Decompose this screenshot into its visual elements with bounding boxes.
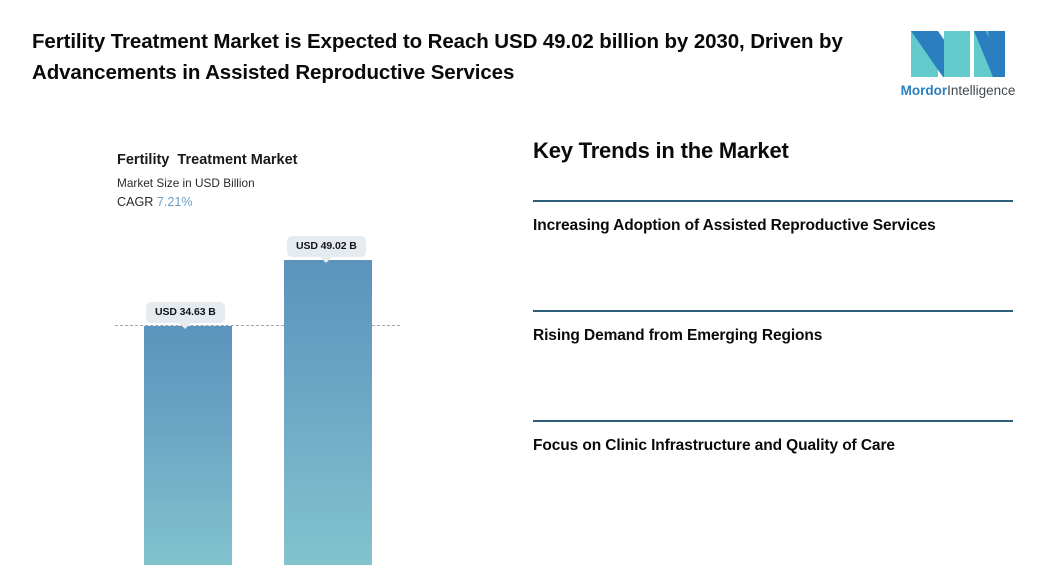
brand-logo-wordmark: MordorIntelligence	[894, 83, 1022, 99]
key-trends-heading: Key Trends in the Market	[533, 138, 1013, 164]
trend-label-2: Rising Demand from Emerging Regions	[533, 324, 1003, 348]
bar-2025	[144, 326, 232, 565]
brand-logo: MordorIntelligence	[894, 27, 1022, 101]
bar-chart-plot: USD 34.63 B USD 49.02 B 2025 2030	[0, 112, 500, 565]
key-trends-panel: Key Trends in the Market Increasing Adop…	[533, 138, 1013, 164]
trend-label-3: Focus on Clinic Infrastructure and Quali…	[533, 434, 1003, 458]
data-label-2025: USD 34.63 B	[146, 302, 225, 323]
trend-item-1: Increasing Adoption of Assisted Reproduc…	[533, 200, 1013, 238]
trend-item-2: Rising Demand from Emerging Regions	[533, 310, 1013, 348]
infographic-page: Fertility Treatment Market is Expected t…	[0, 0, 1050, 565]
header: Fertility Treatment Market is Expected t…	[0, 0, 1050, 112]
brand-name-light: Intelligence	[947, 83, 1015, 98]
page-title: Fertility Treatment Market is Expected t…	[32, 26, 862, 88]
mordor-logo-icon	[908, 27, 1008, 81]
trend-divider	[533, 420, 1013, 422]
brand-name-bold: Mordor	[901, 83, 948, 98]
trend-divider	[533, 310, 1013, 312]
trend-label-1: Increasing Adoption of Assisted Reproduc…	[533, 214, 1003, 238]
trend-divider	[533, 200, 1013, 202]
trend-item-3: Focus on Clinic Infrastructure and Quali…	[533, 420, 1013, 458]
bar-2030	[284, 260, 372, 565]
chart-panel: Fertility Treatment Market Market Size i…	[0, 112, 500, 565]
data-label-2030: USD 49.02 B	[287, 236, 366, 257]
